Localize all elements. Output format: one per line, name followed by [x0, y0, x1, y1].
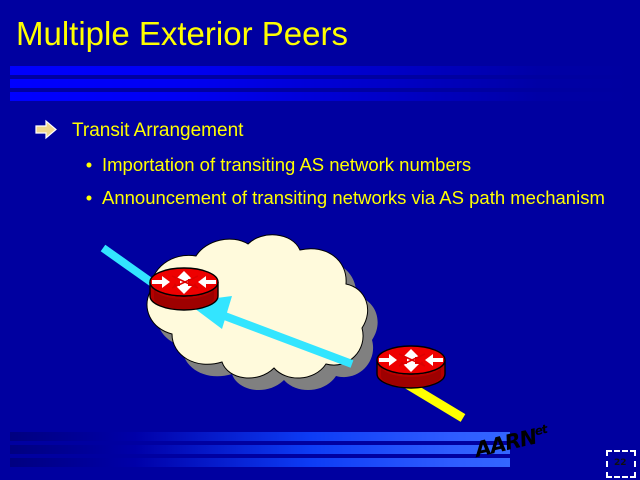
- aarnet-logo-suffix: et: [533, 422, 548, 438]
- bullet-dot-icon: •: [82, 152, 96, 177]
- decorative-bar: [10, 92, 632, 101]
- bullet-level2: • Importation of transiting AS network n…: [34, 152, 614, 177]
- slide-canvas: Multiple Exterior Peers Transit Arrangem…: [0, 0, 640, 480]
- page-title: Multiple Exterior Peers: [16, 14, 348, 54]
- aarnet-logo: AARNet: [478, 432, 568, 466]
- bullet-level2-label: Announcement of transiting networks via …: [102, 187, 605, 208]
- bottom-decorative-bars: [10, 432, 510, 471]
- page-number: 22: [614, 458, 627, 468]
- hollow-right-arrow-icon: [34, 118, 58, 142]
- bullet-level2: • Announcement of transiting networks vi…: [34, 185, 614, 210]
- decorative-bar: [10, 445, 510, 454]
- decorative-bar: [10, 79, 632, 88]
- page-number-placeholder: 22: [606, 450, 636, 478]
- top-decorative-bars: [10, 66, 632, 105]
- bullet-level2-label: Importation of transiting AS network num…: [102, 154, 471, 175]
- bullet-level1-label: Transit Arrangement: [72, 120, 243, 141]
- body-content: Transit Arrangement • Importation of tra…: [34, 118, 614, 210]
- bullet-dot-icon: •: [82, 185, 96, 210]
- decorative-bar: [10, 458, 510, 467]
- network-diagram: [0, 232, 520, 432]
- bullet-level1: Transit Arrangement: [34, 118, 614, 144]
- decorative-bar: [10, 432, 510, 441]
- router-left[interactable]: [150, 268, 218, 310]
- decorative-bar: [10, 66, 632, 75]
- router-right[interactable]: [377, 346, 445, 388]
